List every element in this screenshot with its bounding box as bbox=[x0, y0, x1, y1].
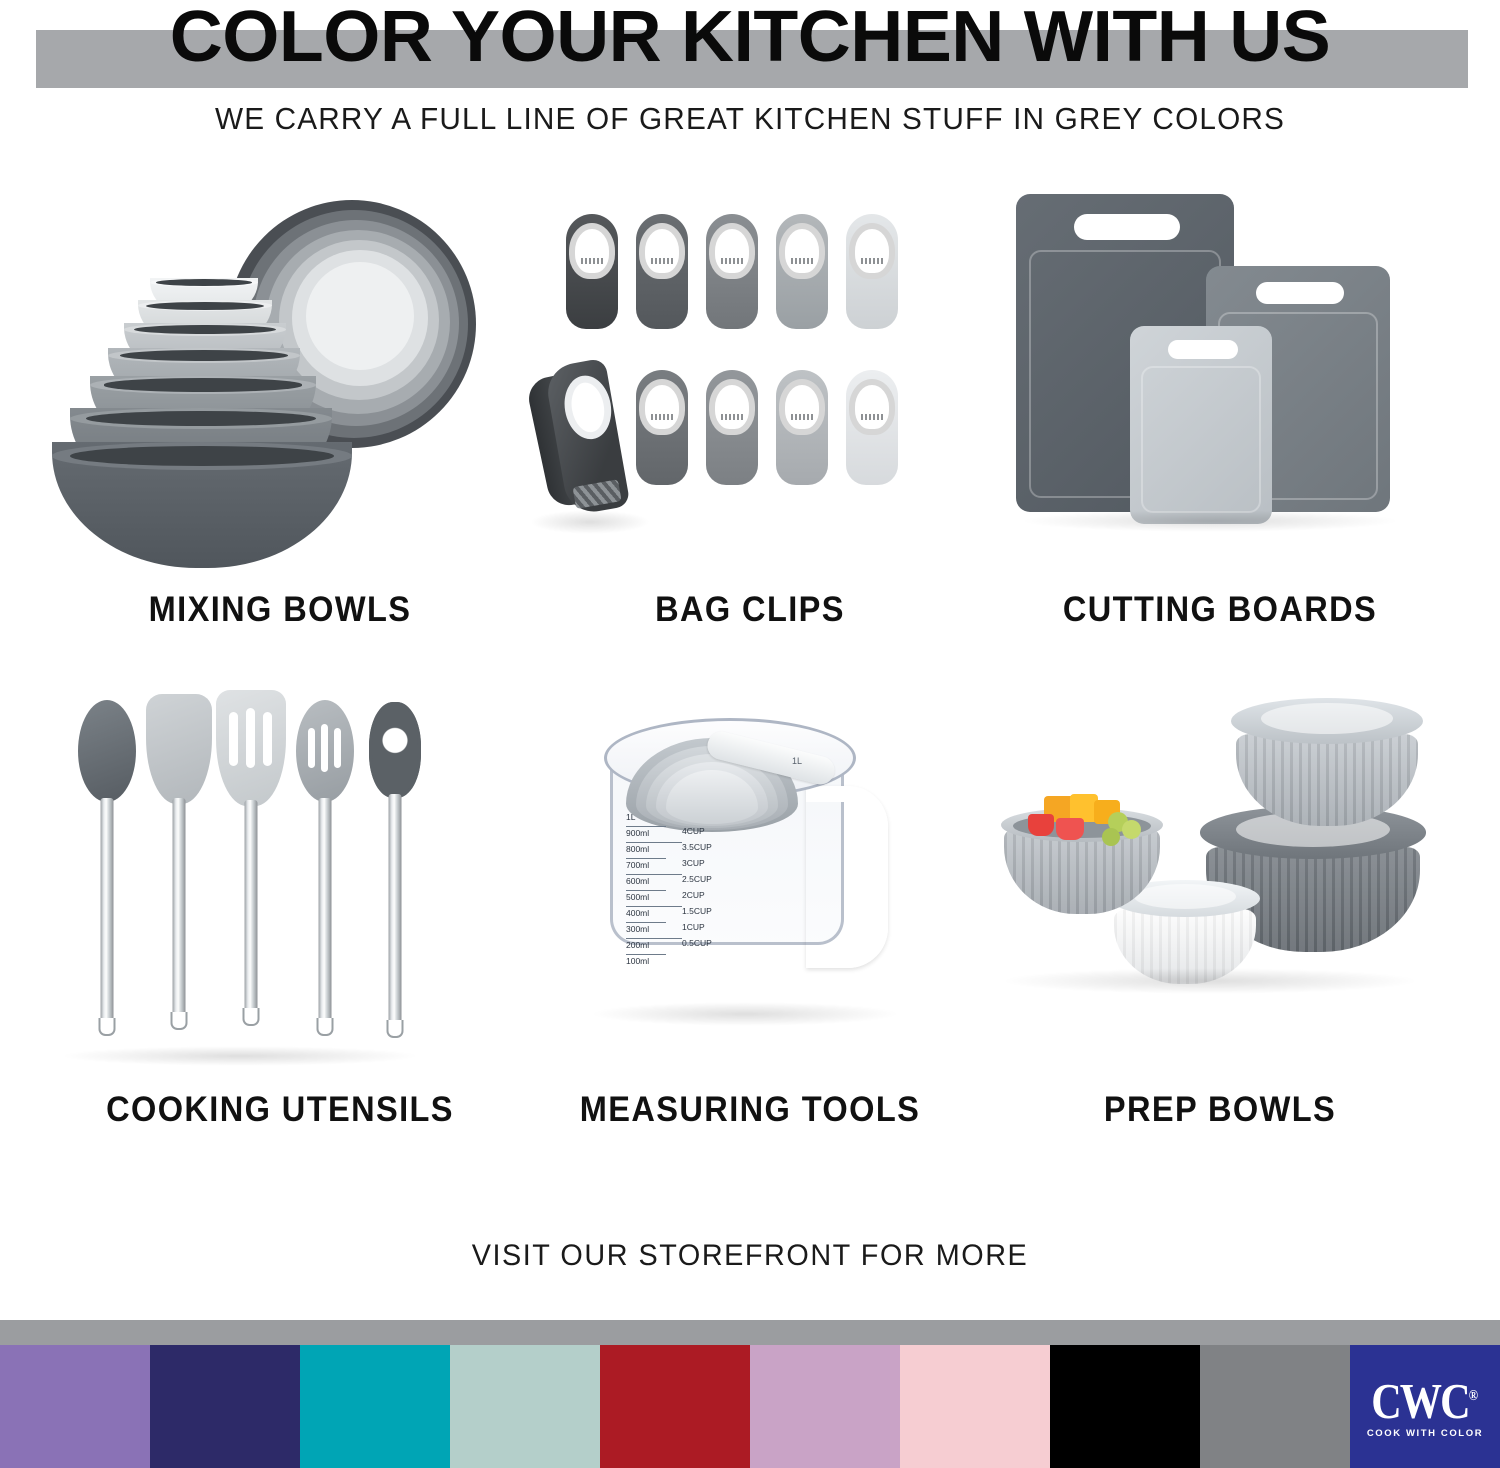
mixing-bowls-image bbox=[50, 180, 510, 580]
swatch-mauve bbox=[750, 1345, 900, 1468]
measuring-tools-image: 1L 1L 900ml 4CUP 800ml 3.5CUP 700ml 3CUP bbox=[520, 680, 980, 1080]
fruit-grape-2 bbox=[1122, 820, 1141, 839]
product-grid: MIXING BOWLS bbox=[0, 180, 1500, 1180]
registered-trademark-icon: ® bbox=[1469, 1386, 1478, 1403]
bag-clip-7 bbox=[706, 370, 758, 485]
utensils-shadow bbox=[60, 1046, 420, 1066]
cooking-utensils-image bbox=[50, 680, 510, 1080]
prep-bowl-medium-light bbox=[1236, 698, 1418, 826]
product-cell-mixing-bowls[interactable]: MIXING BOWLS bbox=[50, 180, 510, 680]
product-row-2: COOKING UTENSILS bbox=[0, 680, 1500, 1180]
utensil-spatula bbox=[144, 694, 214, 1050]
swatch-black bbox=[1050, 1345, 1200, 1468]
logo-tagline: COOK WITH COLOR bbox=[1367, 1428, 1483, 1439]
logo-letters: CWC bbox=[1372, 1374, 1470, 1429]
bag-clip-8 bbox=[776, 370, 828, 485]
pitcher-handle bbox=[806, 786, 888, 968]
swatch-blush-pink bbox=[900, 1345, 1050, 1468]
page-title: COLOR YOUR KITCHEN WITH US bbox=[0, 0, 1500, 82]
product-label-cutting-boards: CUTTING BOARDS bbox=[1006, 590, 1434, 630]
swatch-purple bbox=[0, 1345, 150, 1468]
product-cell-prep-bowls[interactable]: PREP BOWLS bbox=[990, 680, 1450, 1180]
fruit-grape-3 bbox=[1102, 828, 1120, 846]
storefront-text: VISIT OUR STOREFRONT FOR MORE bbox=[30, 1238, 1470, 1274]
product-label-mixing-bowls: MIXING BOWLS bbox=[66, 590, 494, 630]
cutting-board-small bbox=[1130, 326, 1272, 524]
logo-wordmark: CWC® bbox=[1372, 1371, 1479, 1427]
product-label-bag-clips: BAG CLIPS bbox=[536, 590, 964, 630]
product-cell-bag-clips[interactable]: BAG CLIPS bbox=[520, 180, 980, 680]
swatch-navy bbox=[150, 1345, 300, 1468]
utensil-spoon bbox=[72, 700, 142, 1050]
prep-bowls-shadow bbox=[1000, 968, 1420, 994]
fruit-watermelon-2 bbox=[1056, 818, 1084, 840]
bowl-1 bbox=[52, 442, 352, 568]
product-cell-cooking-utensils[interactable]: COOKING UTENSILS bbox=[50, 680, 510, 1180]
product-cell-cutting-boards[interactable]: CUTTING BOARDS bbox=[990, 180, 1450, 680]
footer-grey-strip bbox=[0, 1320, 1500, 1345]
bowl-lid-7 bbox=[306, 262, 414, 370]
product-label-measuring-tools: MEASURING TOOLS bbox=[536, 1090, 964, 1130]
bag-clip-9 bbox=[846, 370, 898, 485]
measuring-pitcher: 1L 1L 900ml 4CUP 800ml 3.5CUP 700ml 3CUP bbox=[610, 708, 890, 1008]
swatch-teal bbox=[300, 1345, 450, 1468]
bag-clip-3 bbox=[706, 214, 758, 329]
page-subtitle: WE CARRY A FULL LINE OF GREAT KITCHEN ST… bbox=[30, 102, 1470, 136]
product-row-1: MIXING BOWLS bbox=[0, 180, 1500, 680]
product-label-prep-bowls: PREP BOWLS bbox=[1006, 1090, 1434, 1130]
utensil-slotted-turner bbox=[216, 690, 286, 1050]
brand-logo[interactable]: CWC® COOK WITH COLOR bbox=[1350, 1345, 1500, 1468]
product-cell-measuring-tools[interactable]: 1L 1L 900ml 4CUP 800ml 3.5CUP 700ml 3CUP bbox=[520, 680, 980, 1180]
header-banner: COLOR YOUR KITCHEN WITH US WE CARRY A FU… bbox=[0, 0, 1500, 160]
bag-clip-5 bbox=[846, 214, 898, 329]
fruit-watermelon bbox=[1028, 814, 1054, 836]
prep-bowls-image bbox=[990, 680, 1450, 1080]
color-swatch-bar: CWC® COOK WITH COLOR bbox=[0, 1345, 1500, 1468]
pitcher-shadow bbox=[590, 1002, 900, 1026]
swatch-red bbox=[600, 1345, 750, 1468]
bag-clip-shadow bbox=[530, 510, 650, 534]
bag-clips-image bbox=[520, 180, 980, 580]
bag-clip-4 bbox=[776, 214, 828, 329]
swatch-sage bbox=[450, 1345, 600, 1468]
cutting-board-shadow bbox=[1020, 510, 1400, 532]
utensil-slotted-spoon bbox=[290, 700, 360, 1050]
swatch-grey bbox=[1200, 1345, 1350, 1468]
product-label-cooking-utensils: COOKING UTENSILS bbox=[66, 1090, 494, 1130]
bag-clip-2 bbox=[636, 214, 688, 329]
pitcher-lid-label: 1L bbox=[792, 756, 802, 766]
bag-clip-6 bbox=[636, 370, 688, 485]
utensil-pasta-server bbox=[360, 702, 430, 1050]
prep-bowl-with-fruit bbox=[1004, 794, 1160, 914]
bag-clip-1 bbox=[566, 214, 618, 329]
cutting-boards-image bbox=[990, 180, 1450, 580]
